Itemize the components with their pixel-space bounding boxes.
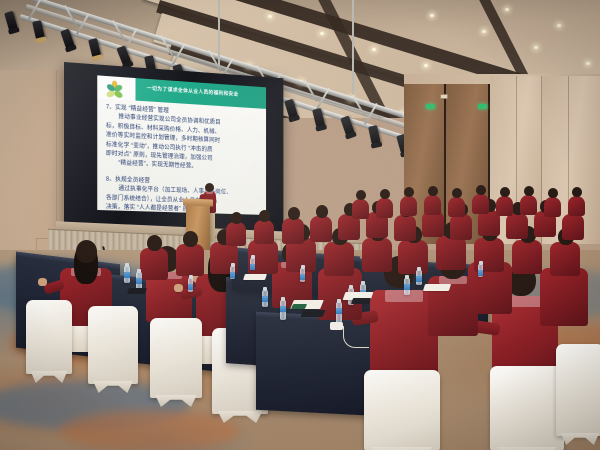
wall-outlet: [440, 94, 448, 99]
chair: [150, 318, 202, 398]
water-bottle: [188, 278, 193, 292]
smartphone: [351, 298, 371, 304]
document-paper: [243, 274, 267, 280]
conference-hall-photo: 一切为了谋求全体从业人员的福利和安全 7、实现 “精益经营” 管理 推动事业经营…: [0, 0, 600, 450]
smartphone: [291, 304, 307, 309]
smartphone: [127, 288, 147, 294]
chair: [88, 306, 138, 384]
water-bottle: [230, 266, 235, 279]
water-bottle: [404, 278, 410, 295]
water-bottle: [478, 264, 483, 277]
exit-sign: [426, 104, 435, 109]
water-bottle: [336, 302, 342, 323]
power-adapter: [330, 322, 343, 330]
water-bottle: [124, 266, 130, 283]
power-cable: [343, 326, 369, 348]
chair: [490, 366, 564, 450]
water-bottle: [300, 268, 305, 282]
water-bottle: [280, 300, 286, 320]
chair: [26, 300, 72, 374]
slide-title: 一切为了谋求全体从业人员的福利和安全: [147, 85, 239, 98]
chair: [556, 344, 600, 436]
smartphone: [300, 310, 325, 317]
presenter-head: [205, 183, 214, 192]
chair: [364, 370, 440, 450]
water-bottle: [262, 290, 268, 307]
flower-logo: [108, 80, 122, 96]
projection-screen: 一切为了谋求全体从业人员的福利和安全 7、实现 “精益经营” 管理 推动事业经营…: [64, 62, 283, 242]
water-bottle: [416, 270, 422, 285]
document-paper: [423, 284, 451, 291]
water-bottle: [136, 272, 142, 289]
water-bottle: [250, 258, 255, 270]
exit-sign: [478, 104, 487, 109]
presentation-slide: 一切为了谋求全体从业人员的福利和安全 7、实现 “精益经营” 管理 推动事业经营…: [97, 75, 266, 215]
